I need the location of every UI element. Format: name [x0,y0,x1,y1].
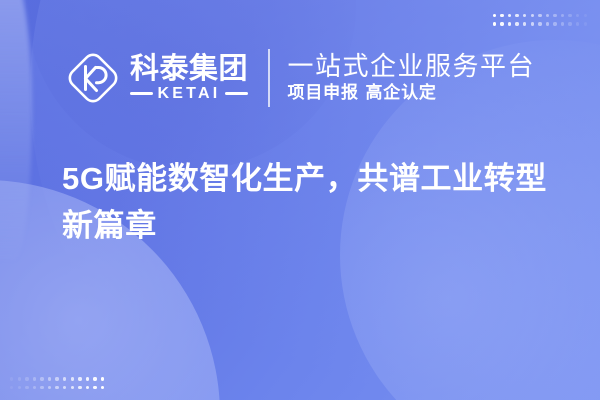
wordmark-rule-left [130,92,153,95]
decorative-dot [523,22,526,25]
decorative-dot [86,386,89,389]
dot-grid-bottom-left [10,377,104,389]
brand-name-cn: 科泰集团 [130,55,248,84]
decorative-dot [561,14,564,17]
decorative-dot [523,14,526,17]
promo-banner: 科泰集团 KETAI 一站式企业服务平台 项目申报 高企认定 5G赋能数智化生产… [0,0,600,400]
banner-headline: 5G赋能数智化生产，共谱工业转型新篇章 [62,155,554,249]
decorative-dot [93,386,96,389]
banner-header: 科泰集团 KETAI 一站式企业服务平台 项目申报 高企认定 [0,42,600,114]
header-divider [268,49,270,107]
dot-row [493,14,587,17]
decorative-dot [493,14,496,17]
dot-grid-top-right [493,14,587,26]
decorative-dot [568,14,571,17]
brand-name-en-row: KETAI [130,86,248,102]
decorative-dot [508,14,511,17]
decorative-dot [561,22,564,25]
left-edge-light-band [0,0,32,260]
decorative-dot [568,22,571,25]
ketai-diamond-kp-monogram-icon [65,50,121,106]
decorative-dot [71,386,74,389]
decorative-dot [493,22,496,25]
brand-wordmark: 科泰集团 KETAI [130,55,248,102]
dot-row [10,377,104,380]
decorative-dot [515,22,518,25]
decorative-dot [33,377,36,380]
decorative-dot [553,14,556,17]
decorative-dot [86,377,89,380]
decorative-dot [101,386,104,389]
decorative-dot [18,377,21,380]
decorative-dot [71,377,74,380]
decorative-dot [33,386,36,389]
decorative-dot [101,377,104,380]
decorative-dot [10,377,13,380]
decorative-dot [515,14,518,17]
decorative-dot [10,386,13,389]
decorative-dot [93,377,96,380]
brand-logo: 科泰集团 KETAI [65,50,248,106]
decorative-dot [40,377,43,380]
decorative-dot [55,377,58,380]
decorative-dot [508,22,511,25]
tagline-primary: 一站式企业服务平台 [288,53,536,80]
decorative-dot [500,14,503,17]
decorative-dot [546,22,549,25]
decorative-dot [531,14,534,17]
decorative-dot [500,22,503,25]
decorative-dot [18,386,21,389]
decorative-dot [546,14,549,17]
tagline-block: 一站式企业服务平台 项目申报 高企认定 [288,53,536,102]
dot-row [493,22,587,25]
decorative-dot [25,386,28,389]
decorative-dot [25,377,28,380]
decorative-dot [584,22,587,25]
decorative-dot [538,14,541,17]
tagline-secondary: 项目申报 高企认定 [288,85,536,103]
decorative-dot [63,377,66,380]
decorative-dot [78,377,81,380]
decorative-dot [576,22,579,25]
decorative-dot [584,14,587,17]
decorative-dot [48,377,51,380]
wordmark-rule-right [225,92,248,95]
dot-row [10,386,104,389]
decorative-dot [63,386,66,389]
decorative-dot [48,386,51,389]
decorative-dot [576,14,579,17]
brand-name-en: KETAI [158,86,221,102]
decorative-dot [78,386,81,389]
decorative-dot [553,22,556,25]
decorative-dot [531,22,534,25]
decorative-dot [55,386,58,389]
decorative-dot [40,386,43,389]
decorative-dot [538,22,541,25]
